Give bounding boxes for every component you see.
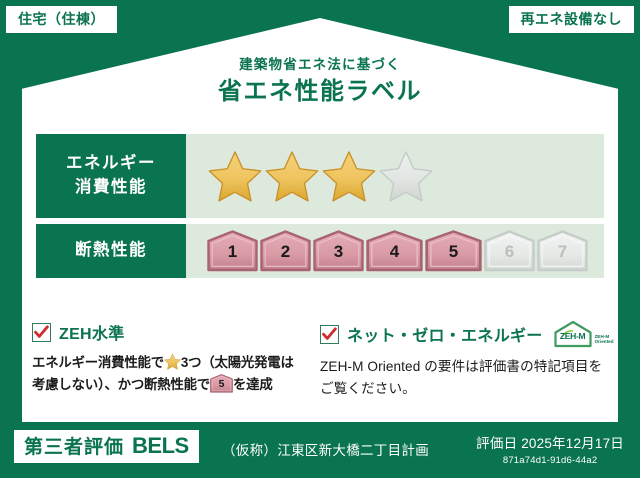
insulation-grade-number: 4 bbox=[366, 243, 423, 260]
body-text: を達成 bbox=[233, 377, 273, 392]
page-title: 省エネ性能ラベル bbox=[0, 79, 640, 105]
insulation-grade-inactive: 6 bbox=[484, 230, 535, 272]
energy-consumption-label: エネルギー 消費性能 bbox=[36, 134, 186, 218]
evaluation-info: 評価日 2025年12月17日 871a74d1-91d6-44a2 bbox=[476, 432, 624, 466]
title-subtitle: 建築物省エネ法に基づく bbox=[0, 58, 640, 73]
insulation-grade-active: 3 bbox=[313, 230, 364, 272]
insulation-grade-active: 1 bbox=[207, 230, 258, 272]
inline-house-number: 5 bbox=[210, 379, 233, 390]
zeh-m-inner-text: ZEH-M bbox=[553, 332, 593, 341]
star-filled bbox=[208, 149, 262, 203]
check-icon bbox=[320, 325, 339, 344]
net-zero-energy-title: ネット・ゼロ・エネルギー bbox=[347, 322, 543, 346]
zeh-m-logo: ZEH-M ZEH-M Oriented bbox=[553, 320, 614, 348]
evaluation-date: 評価日 2025年12月17日 bbox=[476, 432, 624, 452]
evaluation-id: 871a74d1-91d6-44a2 bbox=[476, 455, 624, 466]
body-text: エネルギー消費性能で bbox=[32, 355, 164, 370]
energy-star-rating bbox=[186, 134, 604, 218]
insulation-grade-active: 4 bbox=[366, 230, 423, 272]
insulation-grade-active: 2 bbox=[260, 230, 311, 272]
footer: 第三者評価 BELS （仮称）江東区新大橋二丁目計画 評価日 2025年12月1… bbox=[0, 422, 640, 478]
insulation-grade-number: 1 bbox=[207, 243, 258, 260]
check-icon bbox=[32, 323, 51, 342]
bels-badge: 第三者評価 BELS bbox=[14, 430, 199, 463]
insulation-grade-number: 6 bbox=[484, 243, 535, 260]
inline-house-icon: 5 bbox=[210, 374, 233, 393]
net-zero-energy-column: ネット・ゼロ・エネルギー ZEH-M ZEH-M Oriented bbox=[320, 320, 628, 400]
project-name: （仮称）江東区新大橋二丁目計画 bbox=[222, 439, 429, 459]
energy-performance-label: 住宅（住棟） 再エネ設備なし 建築物省エネ法に基づく 省エネ性能ラベル エネルギ… bbox=[0, 0, 640, 478]
net-zero-energy-description: ZEH-M Oriented の要件は評価書の特記項目をご覧ください。 bbox=[320, 356, 614, 400]
criteria-columns: ZEH水準 エネルギー消費性能で 3つ（太陽光発電は考慮しない）、かつ断熱性能で bbox=[32, 320, 608, 400]
insulation-grade-number: 2 bbox=[260, 243, 311, 260]
energy-consumption-row: エネルギー 消費性能 bbox=[36, 134, 604, 218]
star-empty bbox=[379, 149, 433, 203]
zeh-standard-column: ZEH水準 エネルギー消費性能で 3つ（太陽光発電は考慮しない）、かつ断熱性能で bbox=[32, 320, 320, 400]
zeh-m-side-text: ZEH-M Oriented bbox=[595, 334, 614, 348]
insulation-grade-number: 7 bbox=[537, 243, 588, 260]
renewable-equipment-chip: 再エネ設備なし bbox=[509, 6, 635, 33]
insulation-grade-active: 5 bbox=[425, 230, 482, 272]
bels-label: 第三者評価 bbox=[24, 438, 124, 457]
insulation-grade-number: 3 bbox=[313, 243, 364, 260]
star-filled bbox=[322, 149, 376, 203]
insulation-grade-scale: 1 2 3 bbox=[186, 224, 604, 278]
zeh-standard-description: エネルギー消費性能で 3つ（太陽光発電は考慮しない）、かつ断熱性能で bbox=[32, 352, 306, 395]
insulation-performance-label: 断熱性能 bbox=[36, 224, 186, 278]
insulation-grade-inactive: 7 bbox=[537, 230, 588, 272]
insulation-grade-number: 5 bbox=[425, 243, 482, 260]
zeh-m-house-icon: ZEH-M bbox=[553, 320, 593, 348]
title-block: 建築物省エネ法に基づく 省エネ性能ラベル bbox=[0, 58, 640, 105]
building-type-chip: 住宅（住棟） bbox=[6, 6, 117, 33]
body-text: ZEH-M Oriented の要件は評価書の特記項目をご覧ください。 bbox=[320, 359, 602, 396]
net-zero-energy-heading: ネット・ゼロ・エネルギー ZEH-M ZEH-M Oriented bbox=[320, 320, 614, 348]
zeh-standard-heading: ZEH水準 bbox=[32, 320, 306, 344]
star-filled bbox=[265, 149, 319, 203]
insulation-performance-row: 断熱性能 1 2 bbox=[36, 224, 604, 278]
zeh-standard-title: ZEH水準 bbox=[59, 320, 125, 344]
bels-wordmark: BELS bbox=[132, 435, 189, 457]
inline-star-icon bbox=[164, 353, 181, 370]
performance-rows: エネルギー 消費性能 bbox=[36, 134, 604, 284]
